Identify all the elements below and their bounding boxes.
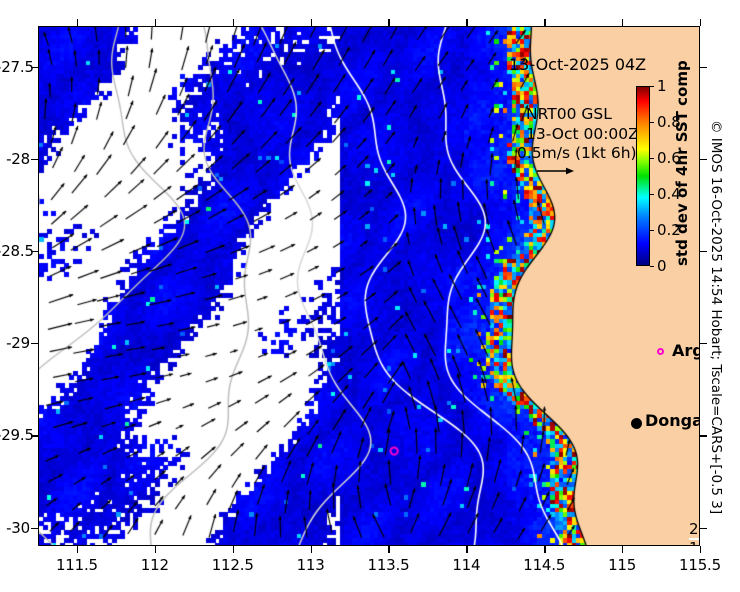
y-tick-right — [700, 343, 707, 344]
x-tick — [544, 546, 545, 553]
y-tick — [31, 343, 38, 344]
x-tick-label: 115.5 — [665, 556, 735, 574]
x-tick-label: 114 — [431, 556, 501, 574]
y-tick-label: -27.5 — [0, 58, 30, 76]
dongara-city-label: Dongara — [645, 411, 700, 430]
y-tick-right — [700, 528, 707, 529]
x-tick — [155, 546, 156, 553]
date-stamp-label: 13-Oct-2025 04Z — [509, 55, 646, 74]
product-label: NRT00 GSL — [526, 105, 612, 123]
depth-contour-legend: 200m 1000m — [689, 520, 700, 546]
sst-map-figure: 13-Oct-2025 04Z NRT00 GSL 13-Oct 00:00Z … — [0, 0, 740, 592]
x-tick — [700, 546, 701, 553]
colorbar[interactable]: 00.20.40.60.81 — [636, 86, 650, 266]
x-tick-label: 112.5 — [198, 556, 268, 574]
x-tick-label: 113.5 — [353, 556, 423, 574]
x-tick-top — [388, 19, 389, 26]
x-tick-top — [466, 19, 467, 26]
colorbar-tick-label: 0 — [657, 257, 667, 275]
colorbar-title: std dev of 4hr SST comp — [672, 246, 740, 266]
map-plot-area[interactable]: 13-Oct-2025 04Z NRT00 GSL 13-Oct 00:00Z … — [38, 26, 700, 546]
colorbar-tick — [650, 230, 654, 231]
x-tick — [388, 546, 389, 553]
velocity-scale-label: 0.5m/s (1kt 6h) — [517, 144, 637, 162]
y-tick-label: -29 — [0, 334, 30, 352]
colorbar-gradient — [636, 86, 650, 266]
credit-text: © IMOS 16-Oct-2025 14:54 Hobart; Tscale=… — [708, 120, 724, 514]
dongara-city-marker[interactable] — [631, 418, 642, 429]
x-tick-top — [233, 19, 234, 26]
y-tick-right — [700, 67, 707, 68]
x-tick-top — [700, 19, 701, 26]
x-tick-label: 114.5 — [509, 556, 579, 574]
x-tick — [466, 546, 467, 553]
colorbar-tick — [650, 86, 654, 87]
x-tick-top — [544, 19, 545, 26]
depth-200m-label: 200m — [689, 520, 700, 539]
x-tick-label: 115 — [587, 556, 657, 574]
argo-legend-marker[interactable] — [657, 348, 664, 355]
argo-legend-label: Argo — [672, 341, 700, 360]
x-tick — [622, 546, 623, 553]
x-tick — [77, 546, 78, 553]
product-time-label: 13-Oct 00:00Z — [526, 125, 639, 143]
x-tick-label: 112 — [120, 556, 190, 574]
x-tick-label: 111.5 — [42, 556, 112, 574]
y-tick-label: -28.5 — [0, 242, 30, 260]
colorbar-tick — [650, 122, 654, 123]
y-tick-right — [700, 435, 707, 436]
x-tick-top — [311, 19, 312, 26]
x-tick — [233, 546, 234, 553]
depth-200m-line-sample — [689, 538, 700, 540]
x-tick — [311, 546, 312, 553]
x-tick-top — [77, 19, 78, 26]
colorbar-tick — [650, 194, 654, 195]
y-tick-label: -30 — [0, 519, 30, 537]
colorbar-tick-label: 1 — [657, 77, 667, 95]
colorbar-tick — [650, 266, 654, 267]
x-tick-top — [622, 19, 623, 26]
x-tick-label: 113 — [276, 556, 346, 574]
y-tick-label: -29.5 — [0, 426, 30, 444]
reference-arrow-icon — [536, 165, 576, 177]
y-tick-label: -28 — [0, 150, 30, 168]
y-tick — [31, 528, 38, 529]
colorbar-tick — [650, 158, 654, 159]
x-tick-top — [155, 19, 156, 26]
y-tick-right — [700, 159, 707, 160]
y-tick — [31, 159, 38, 160]
depth-1000m-label: 1000m — [689, 539, 700, 546]
